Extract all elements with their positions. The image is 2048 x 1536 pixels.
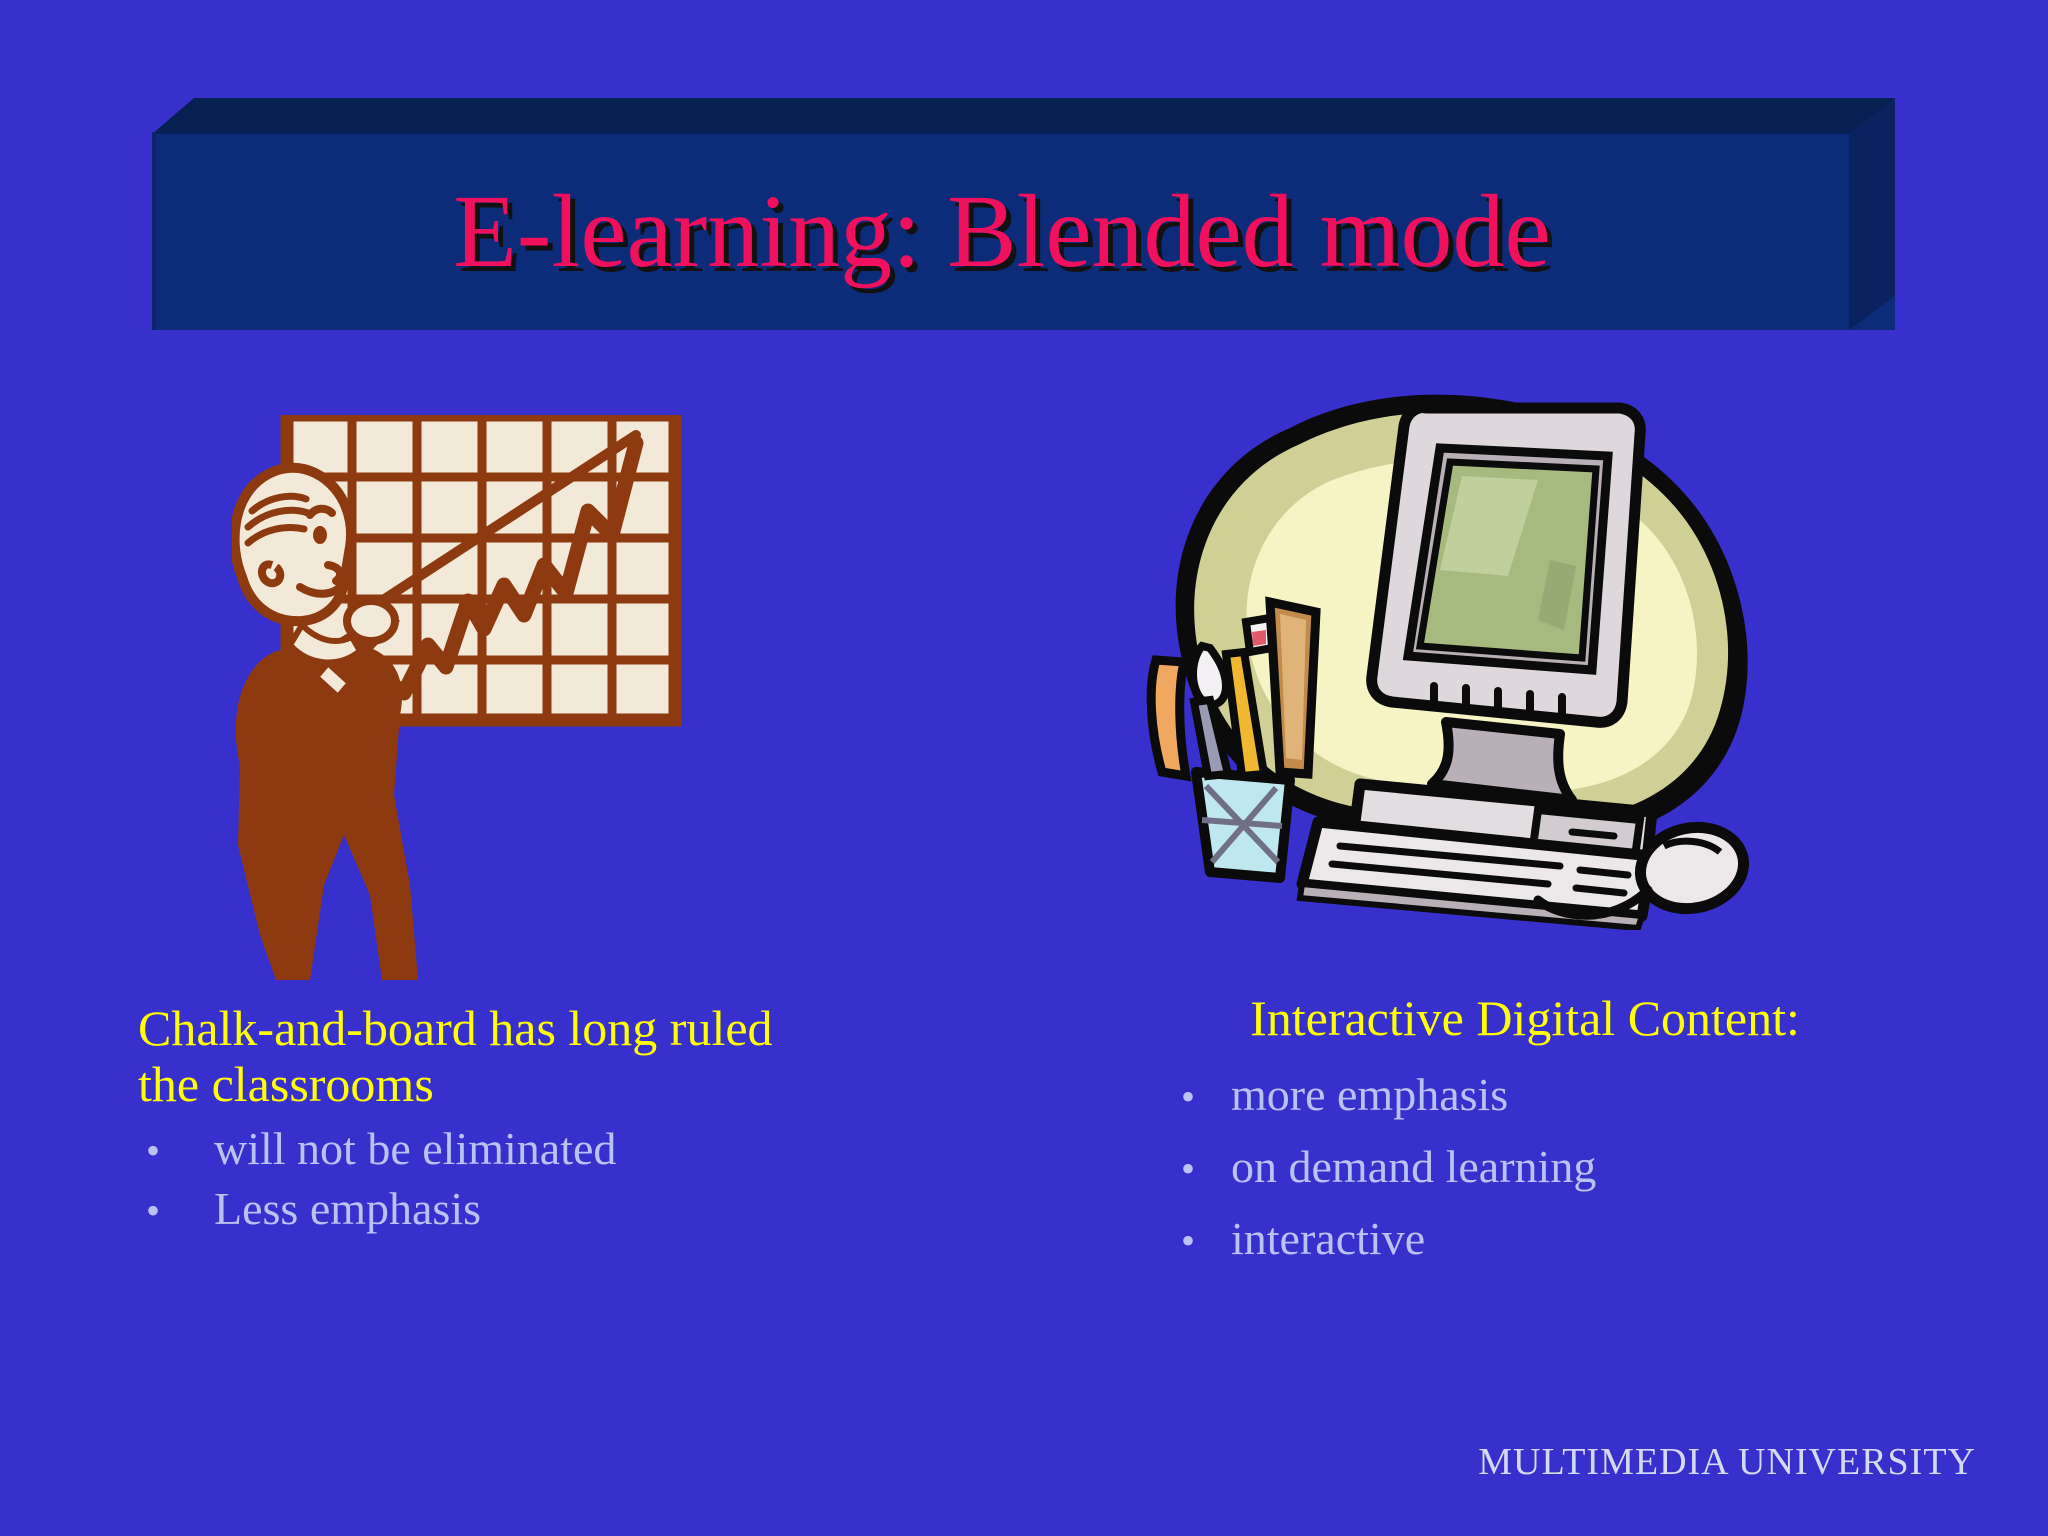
left-column-heading: Chalk-and-board has long ruled the class… (138, 1000, 778, 1112)
banner-top-bevel (152, 98, 1895, 134)
list-item: • Less emphasis (138, 1186, 778, 1232)
right-column-heading: Interactive Digital Content: (1155, 990, 1895, 1046)
right-text-column: Interactive Digital Content: • more emph… (1155, 990, 1895, 1262)
bullet-point-icon: • (1155, 1149, 1231, 1189)
bullet-label: interactive (1231, 1216, 1425, 1262)
bullet-point-icon: • (1155, 1077, 1231, 1117)
list-item: • on demand learning (1155, 1144, 1895, 1190)
banner-right-bevel (1849, 98, 1895, 330)
footer-institution-name: MULTIMEDIA UNIVERSITY (1478, 1440, 1976, 1484)
list-item: • more emphasis (1155, 1072, 1895, 1118)
slide-title: E-learning: Blended mode (152, 132, 1852, 330)
bullet-point-icon: • (138, 1131, 214, 1171)
presentation-slide: E-learning: Blended mode (0, 0, 2048, 1536)
bullet-label: more emphasis (1231, 1072, 1508, 1118)
list-item: • interactive (1155, 1216, 1895, 1262)
bullet-label: Less emphasis (214, 1186, 481, 1232)
bullet-point-icon: • (1155, 1221, 1231, 1261)
list-item: • will not be eliminated (138, 1126, 778, 1172)
desktop-computer-illustration (1140, 370, 1780, 930)
bullet-label: on demand learning (1231, 1144, 1596, 1190)
title-banner: E-learning: Blended mode (152, 98, 1895, 330)
bullet-label: will not be eliminated (214, 1126, 616, 1172)
teacher-pointing-at-growth-chart-illustration (232, 415, 842, 980)
left-text-column: Chalk-and-board has long ruled the class… (138, 1000, 778, 1232)
left-bullet-list: • will not be eliminated • Less emphasis (138, 1126, 778, 1232)
right-bullet-list: • more emphasis • on demand learning • i… (1155, 1072, 1895, 1262)
bullet-point-icon: • (138, 1191, 214, 1231)
